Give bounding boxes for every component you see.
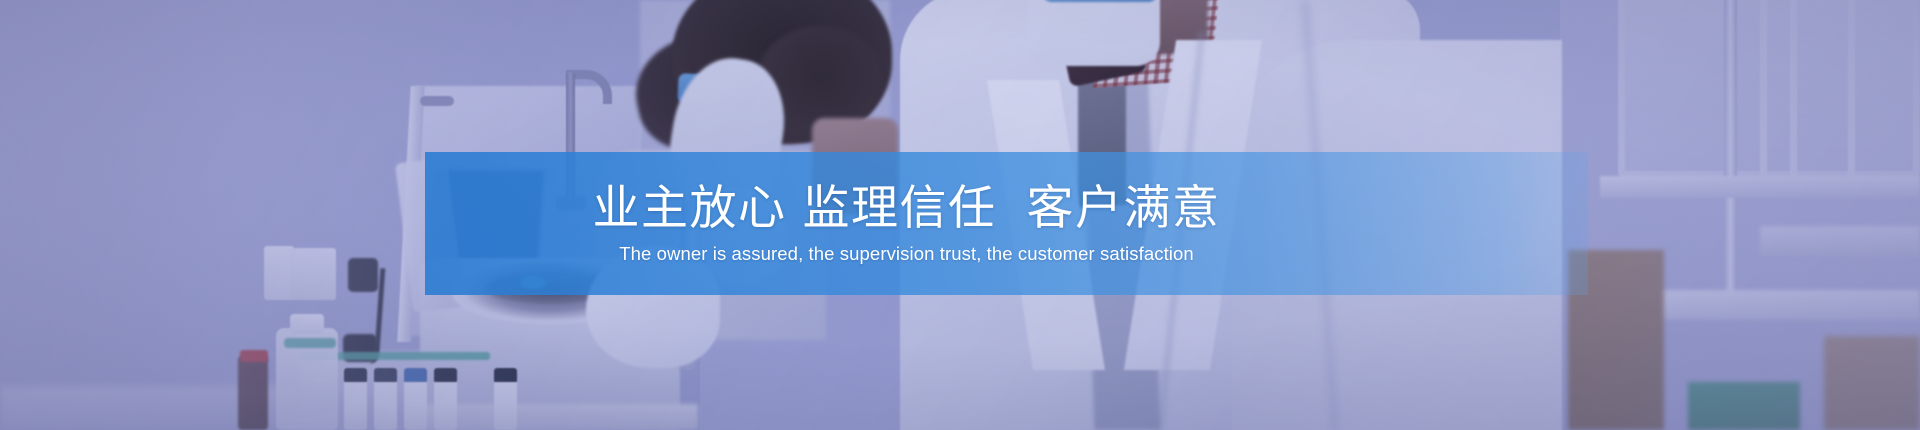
hero-banner: 业主放心监理信任客户满意 The owner is assured, the s… [0, 0, 1920, 430]
banner-headline: 业主放心监理信任客户满意 [593, 182, 1221, 235]
headline-phrase-3: 客户满意 [1027, 181, 1221, 234]
headline-phrase-2: 监理信任 [803, 181, 997, 234]
headline-phrase-1: 业主放心 [593, 181, 787, 234]
headline-text-block: 业主放心监理信任客户满意 The owner is assured, the s… [425, 152, 1588, 295]
banner-subheadline: The owner is assured, the supervision tr… [619, 243, 1194, 265]
